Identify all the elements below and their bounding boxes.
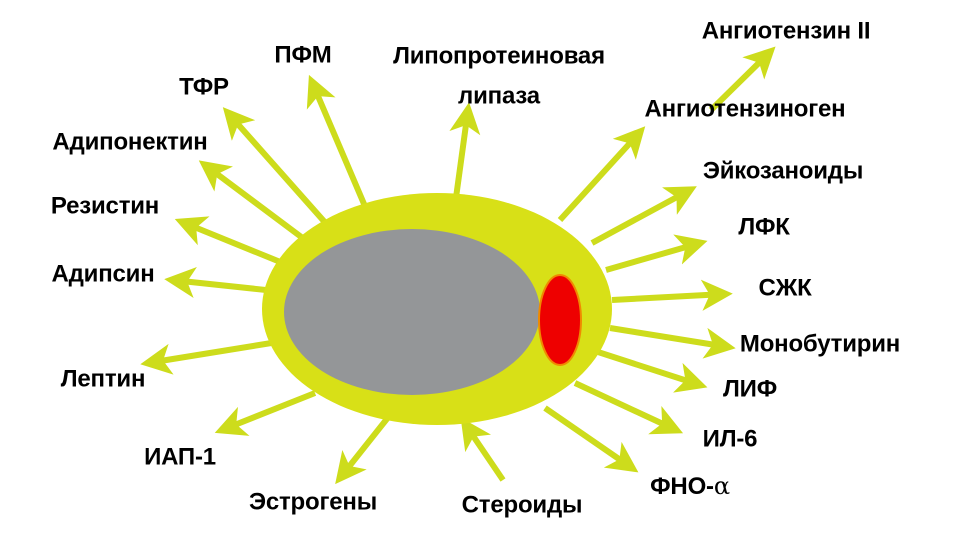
arrow-leptin bbox=[148, 340, 290, 363]
label-pfm: ПФМ bbox=[274, 43, 331, 70]
arrow-eicosanoids bbox=[592, 190, 690, 243]
label-lfk: ЛФК bbox=[738, 215, 789, 242]
arrow-pfm bbox=[312, 82, 370, 218]
label-steroids: Стероиды bbox=[462, 493, 583, 520]
arrow-tfr bbox=[228, 113, 330, 228]
label-lipoprotein-lipase-line2: липаза bbox=[458, 84, 540, 111]
label-angiotensin-2: Ангиотензин II bbox=[702, 19, 871, 46]
lipid-droplet-ellipse bbox=[539, 275, 581, 365]
label-eicosanoids: Эйкозаноиды bbox=[703, 159, 863, 186]
label-monobutyrin: Монобутирин bbox=[740, 332, 900, 359]
label-tnf-alpha: ФНО-α bbox=[650, 473, 730, 501]
label-tfr: ТФР bbox=[179, 75, 229, 102]
arrow-estrogens bbox=[340, 415, 390, 478]
label-lif: ЛИФ bbox=[723, 377, 777, 404]
arrow-lfk bbox=[606, 243, 700, 270]
label-leptin: Лептин bbox=[61, 367, 146, 394]
label-tnf-alpha-prefix: ФНО- bbox=[650, 473, 714, 500]
arrow-szhk bbox=[612, 294, 725, 300]
label-resistin: Резистин bbox=[51, 194, 159, 221]
label-angiotensinogen: Ангиотензиноген bbox=[645, 97, 846, 124]
arrow-lif bbox=[598, 352, 700, 385]
arrow-pai1 bbox=[222, 393, 315, 430]
arrow-lipoprotein bbox=[455, 110, 468, 205]
label-pai-1: ИАП-1 bbox=[144, 445, 216, 472]
alpha-glyph: α bbox=[714, 472, 730, 500]
arrow-angiotensinogen bbox=[560, 132, 640, 220]
arrow-il6 bbox=[575, 383, 676, 430]
label-il6: ИЛ-6 bbox=[703, 427, 758, 454]
label-szhk: СЖК bbox=[758, 276, 811, 303]
label-adipsin: Адипсин bbox=[51, 262, 154, 289]
label-lipoprotein-lipase-line1: Липопротеиновая bbox=[393, 44, 605, 71]
arrow-steroids bbox=[465, 424, 503, 480]
nucleus-ellipse bbox=[284, 229, 540, 395]
adipocyte-secretion-diagram: ТФР ПФМ Липопротеиновая липаза Ангиотенз… bbox=[0, 0, 954, 538]
arrow-tnf-alpha bbox=[545, 408, 632, 468]
arrow-monobutyrin bbox=[610, 328, 728, 347]
arrow-adiponectin bbox=[205, 165, 312, 245]
label-adiponectin: Адипонектин bbox=[52, 130, 207, 157]
label-estrogens: Эстрогены bbox=[249, 490, 377, 517]
